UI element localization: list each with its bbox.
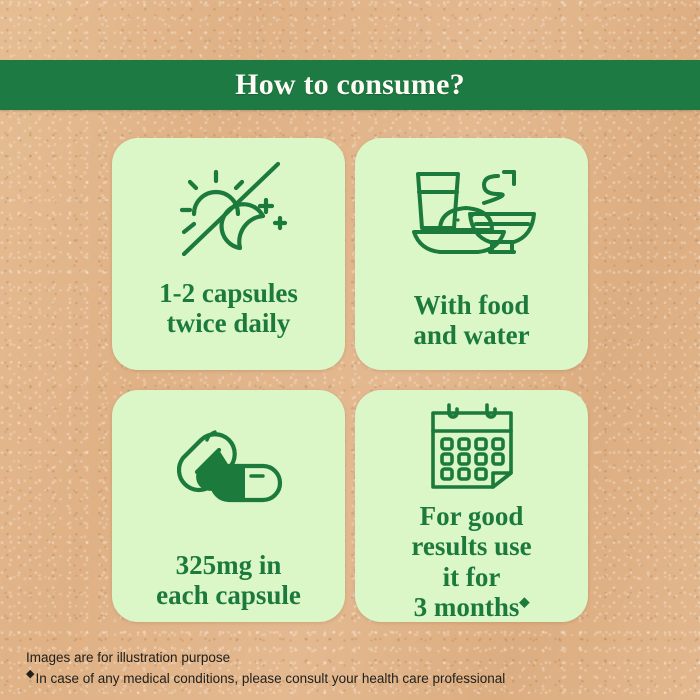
instruction-card-grid: 1-2 capsules twice daily [112, 138, 588, 622]
card-4-line-4-wrap: 3 months◆ [411, 592, 531, 622]
card-4-line-4: 3 months [414, 592, 520, 622]
card-3-line-1: 325mg in [156, 550, 301, 580]
footer-disclaimer: Images are for illustration purpose ◆In … [26, 648, 686, 690]
footer-line-1: Images are for illustration purpose [26, 648, 686, 669]
card-4-line-3: it for [411, 562, 531, 592]
card-capsule-strength: 325mg in each capsule [112, 390, 345, 622]
card-1-line-2: twice daily [159, 308, 298, 338]
card-4-line-2: results use [411, 531, 531, 561]
card-3-line-2: each capsule [156, 580, 301, 610]
card-2-line-1: With food [413, 290, 529, 320]
card-2-line-2: and water [413, 320, 529, 350]
card-4-line-1: For good [411, 501, 531, 531]
card-duration: For good results use it for 3 months◆ [355, 390, 588, 622]
food-and-water-icon [355, 138, 588, 272]
page-root: How to consume? [0, 0, 700, 700]
sun-moon-icon [112, 138, 345, 270]
calendar-icon [355, 390, 588, 491]
card-with-food-water-text: With food and water [405, 290, 537, 350]
footer-line-2-wrap: ◆In case of any medical conditions, plea… [26, 669, 686, 690]
footer-line-2: In case of any medical conditions, pleas… [35, 671, 505, 686]
footnote-star-icon: ◆ [26, 668, 34, 680]
card-duration-text: For good results use it for 3 months◆ [403, 501, 539, 622]
card-dosage-frequency-text: 1-2 capsules twice daily [151, 278, 306, 338]
card-dosage-frequency: 1-2 capsules twice daily [112, 138, 345, 370]
header-banner: How to consume? [0, 60, 700, 110]
card-with-food-water: With food and water [355, 138, 588, 370]
footnote-marker-icon: ◆ [519, 594, 529, 609]
card-1-line-1: 1-2 capsules [159, 278, 298, 308]
card-capsule-strength-text: 325mg in each capsule [148, 550, 309, 610]
capsules-icon [112, 390, 345, 524]
page-title: How to consume? [235, 68, 465, 102]
